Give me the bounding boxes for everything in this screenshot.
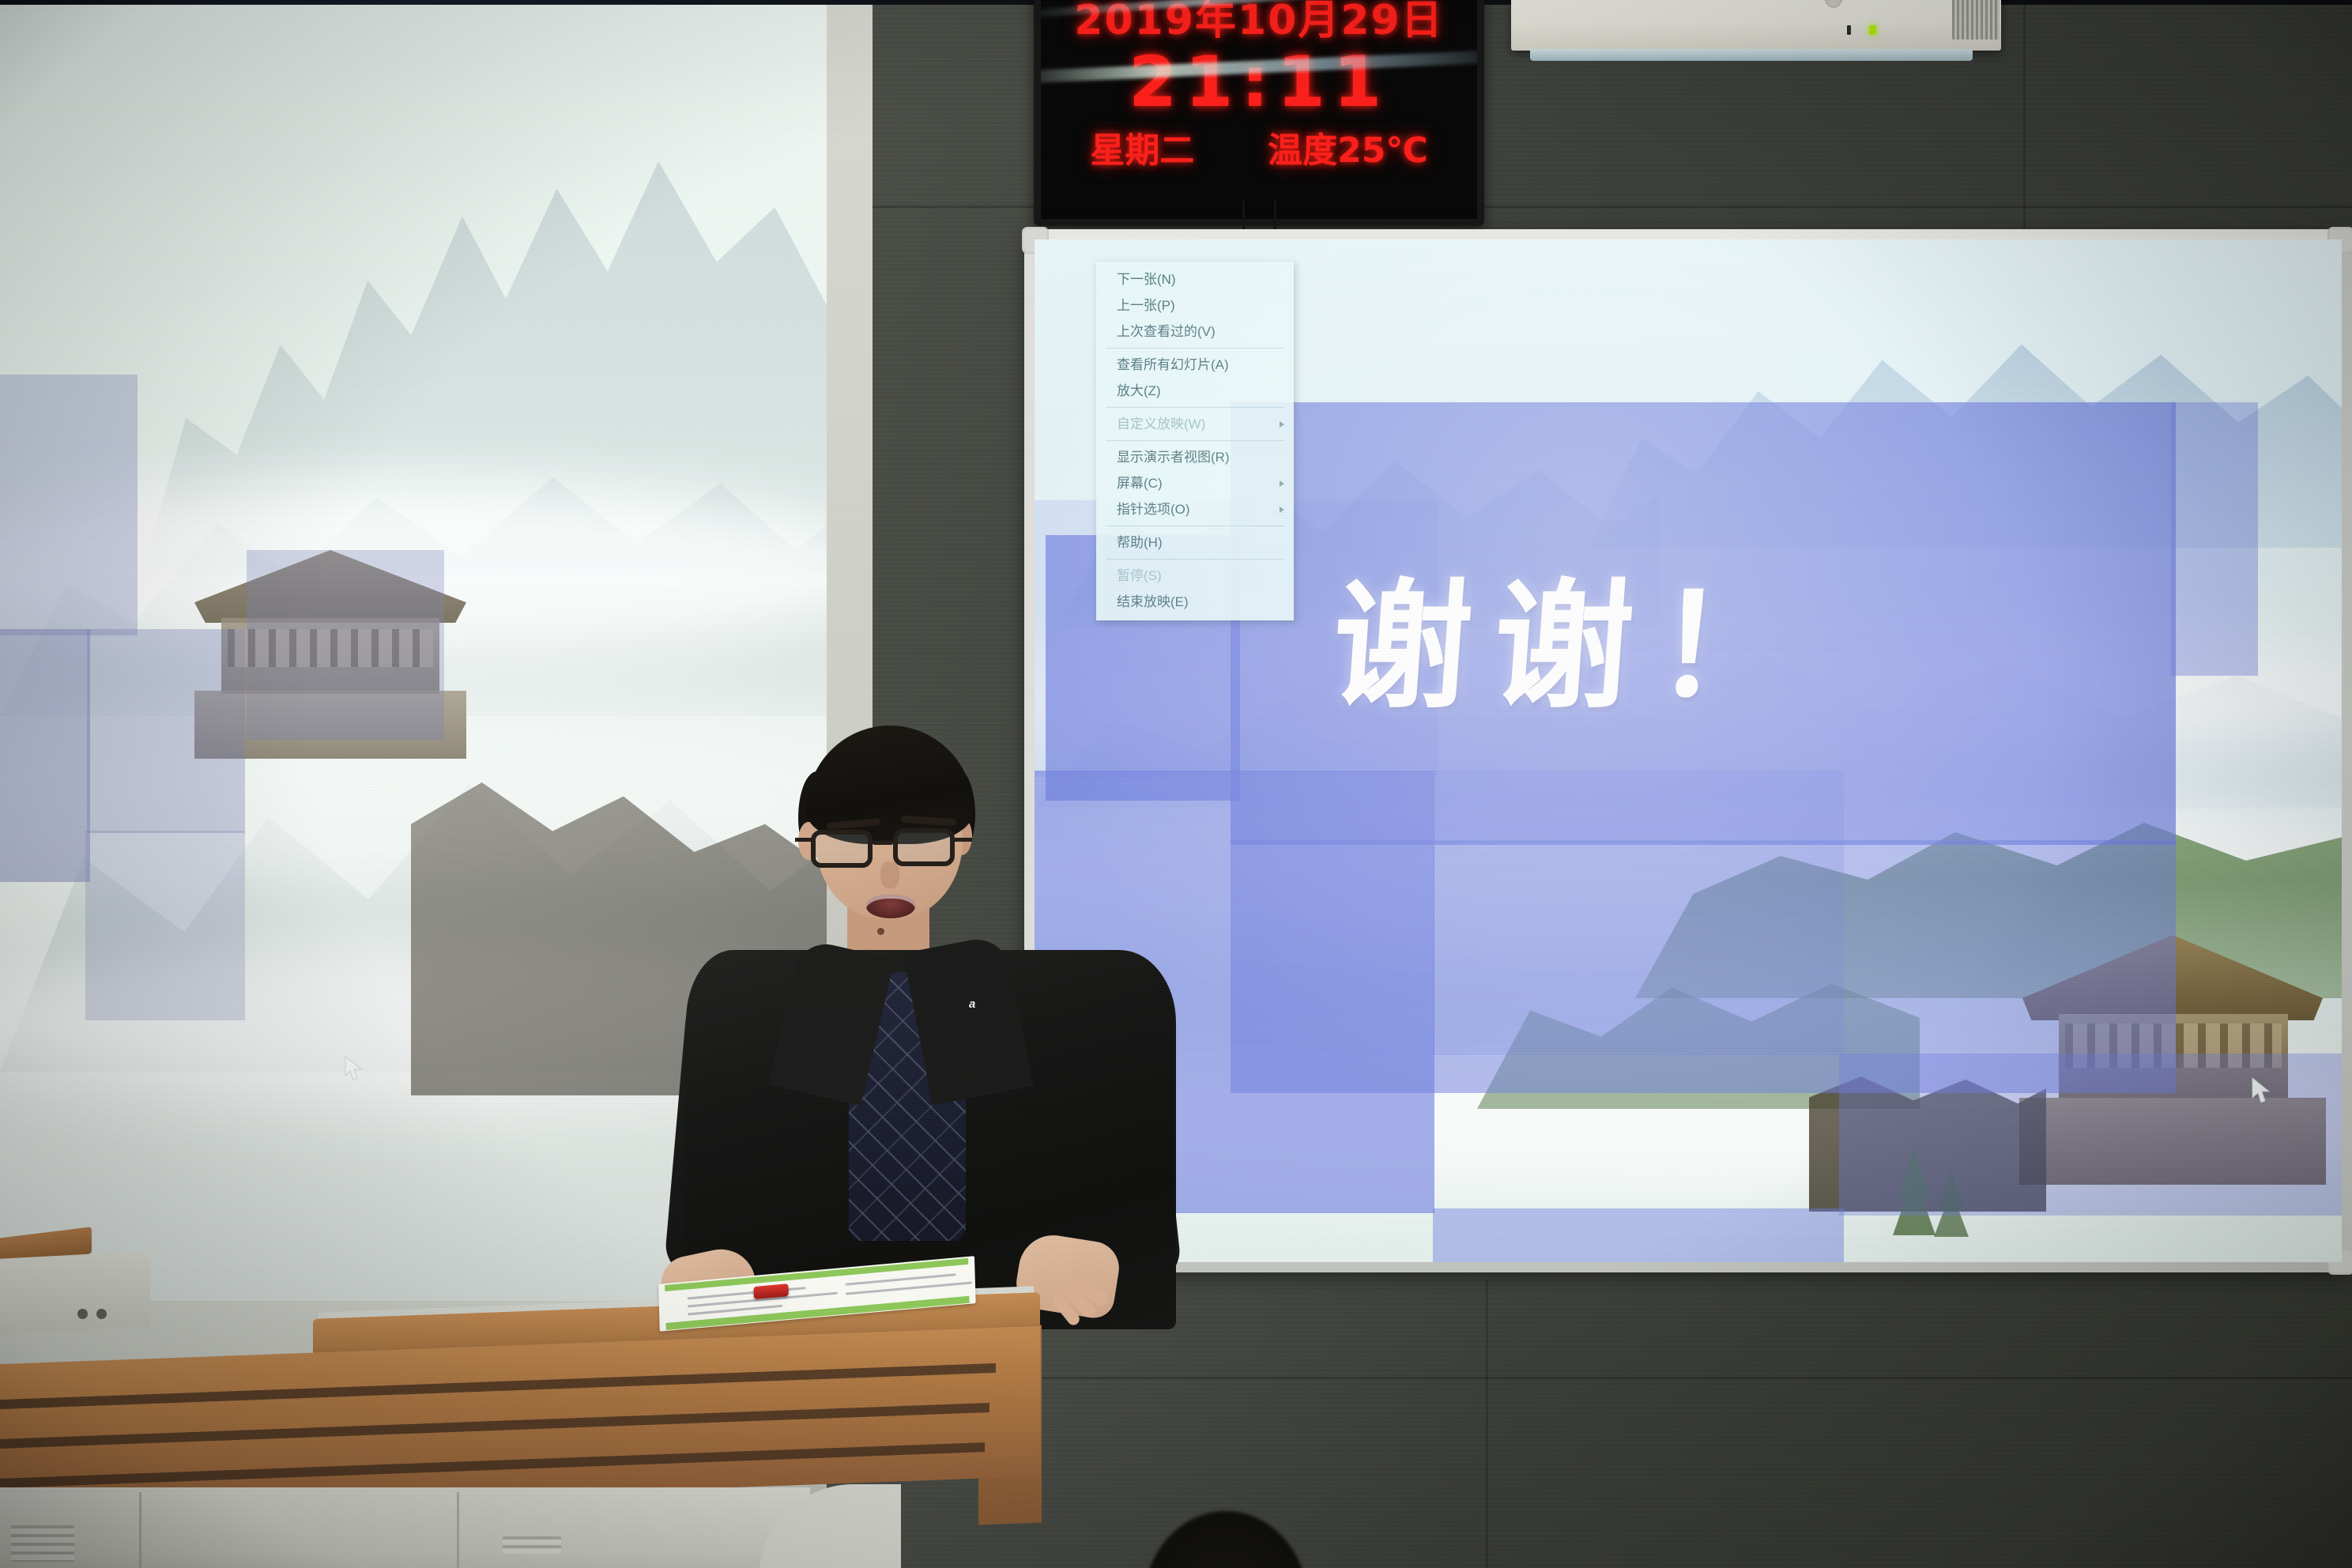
context-menu-item[interactable]: 下一张(N) xyxy=(1096,266,1294,292)
projector-status-led-off xyxy=(1847,25,1851,35)
wall-seam-vertical xyxy=(2023,5,2026,242)
context-menu-item[interactable]: 指针选项(O) xyxy=(1096,496,1294,522)
led-clock-display: 2019年10月29日 21:11 星期二 温度25℃ xyxy=(1034,0,1484,226)
thanks-panel-bottom xyxy=(1231,840,2176,1093)
podium-cabinet[interactable] xyxy=(0,1487,810,1568)
wooden-podium xyxy=(0,1288,1075,1568)
cabinet-vent xyxy=(503,1536,561,1554)
presenter-nose xyxy=(880,861,899,888)
hoodie-chest-logo: a xyxy=(969,997,1002,1010)
context-menu-item[interactable]: 查看所有幻灯片(A) xyxy=(1096,352,1294,378)
eyeglass-temple xyxy=(795,838,812,842)
eyeglass-lens-right xyxy=(893,828,955,866)
interactive-whiteboard[interactable]: 谢谢！ 下一张(N)上一张(P)上次查看过的(V)查看所有幻灯片(A)放大(Z)… xyxy=(1024,229,2352,1272)
projector-power-led xyxy=(1869,25,1876,35)
slide-accent-block xyxy=(85,831,245,1020)
slide-headline: 谢谢！ xyxy=(1326,533,1824,735)
slide-accent-block xyxy=(87,629,245,833)
context-menu-item[interactable]: 放大(Z) xyxy=(1096,378,1294,404)
context-menu-item[interactable]: 上一张(P) xyxy=(1096,292,1294,318)
context-menu-item[interactable]: 上次查看过的(V) xyxy=(1096,318,1294,345)
submenu-arrow-icon xyxy=(1280,421,1284,428)
context-menu-item[interactable]: 显示演示者视图(R) xyxy=(1096,444,1294,470)
cabinet-door-edge[interactable] xyxy=(139,1492,142,1568)
sony-projector: SONY xyxy=(1511,0,2001,51)
slide-accent-block xyxy=(0,375,138,635)
aux-desk-body xyxy=(0,1251,150,1335)
context-menu-separator xyxy=(1106,407,1284,408)
presenter-person: a xyxy=(680,735,1185,1328)
led-temperature-text: 温度25℃ xyxy=(1268,122,1428,172)
eyeglass-temple xyxy=(955,838,972,842)
projector-sensor xyxy=(1824,0,1843,8)
slideshow-context-menu[interactable]: 下一张(N)上一张(P)上次查看过的(V)查看所有幻灯片(A)放大(Z)自定义放… xyxy=(1096,262,1294,620)
slide-accent-block xyxy=(1433,1208,1844,1262)
slide-accent-block xyxy=(247,550,444,740)
auxiliary-desk xyxy=(0,1233,174,1367)
cabinet-door-edge[interactable] xyxy=(457,1492,460,1568)
wall-seam-vertical xyxy=(1486,1280,1488,1568)
context-menu-item[interactable]: 屏幕(C) xyxy=(1096,470,1294,496)
context-menu-item: 自定义放映(W) xyxy=(1096,411,1294,437)
submenu-arrow-icon xyxy=(1280,507,1284,513)
classroom-scene: SONY 2019年10月29日 21:11 星期二 温度25℃ xyxy=(0,0,2352,1568)
context-menu-item[interactable]: 帮助(H) xyxy=(1096,530,1294,556)
context-menu-item: 暂停(S) xyxy=(1096,563,1294,589)
aux-desk-grommet xyxy=(77,1309,88,1319)
context-menu-separator xyxy=(1106,348,1284,349)
thanks-panel-right-wing xyxy=(2171,402,2258,676)
submenu-arrow-icon xyxy=(1280,481,1284,487)
whiteboard-surface[interactable]: 谢谢！ 下一张(N)上一张(P)上次查看过的(V)查看所有幻灯片(A)放大(Z)… xyxy=(1035,239,2342,1262)
context-menu-item[interactable]: 结束放映(E) xyxy=(1096,589,1294,615)
eyeglass-lens-left xyxy=(811,830,873,868)
led-weekday-text: 星期二 xyxy=(1090,122,1194,172)
slide-accent-block xyxy=(0,629,90,882)
presenter-chin-mole xyxy=(877,928,884,935)
context-menu-separator xyxy=(1106,559,1284,560)
context-menu-separator xyxy=(1106,440,1284,441)
led-panel: 2019年10月29日 21:11 星期二 温度25℃ xyxy=(1041,0,1477,219)
eyeglass-bridge xyxy=(873,841,893,845)
led-bottom-row: 星期二 温度25℃ xyxy=(1053,122,1464,172)
presenter-mouth xyxy=(866,895,915,918)
projector-underside xyxy=(1530,49,1973,61)
sony-brand-logo: SONY xyxy=(1655,0,1730,4)
aux-desk-grommet xyxy=(96,1309,107,1319)
powerpoint-slide[interactable]: 谢谢！ 下一张(N)上一张(P)上次查看过的(V)查看所有幻灯片(A)放大(Z)… xyxy=(1035,239,2342,1262)
projector-vent-grille xyxy=(1952,0,2000,40)
cabinet-vent xyxy=(11,1525,74,1562)
context-menu-separator xyxy=(1106,526,1284,526)
